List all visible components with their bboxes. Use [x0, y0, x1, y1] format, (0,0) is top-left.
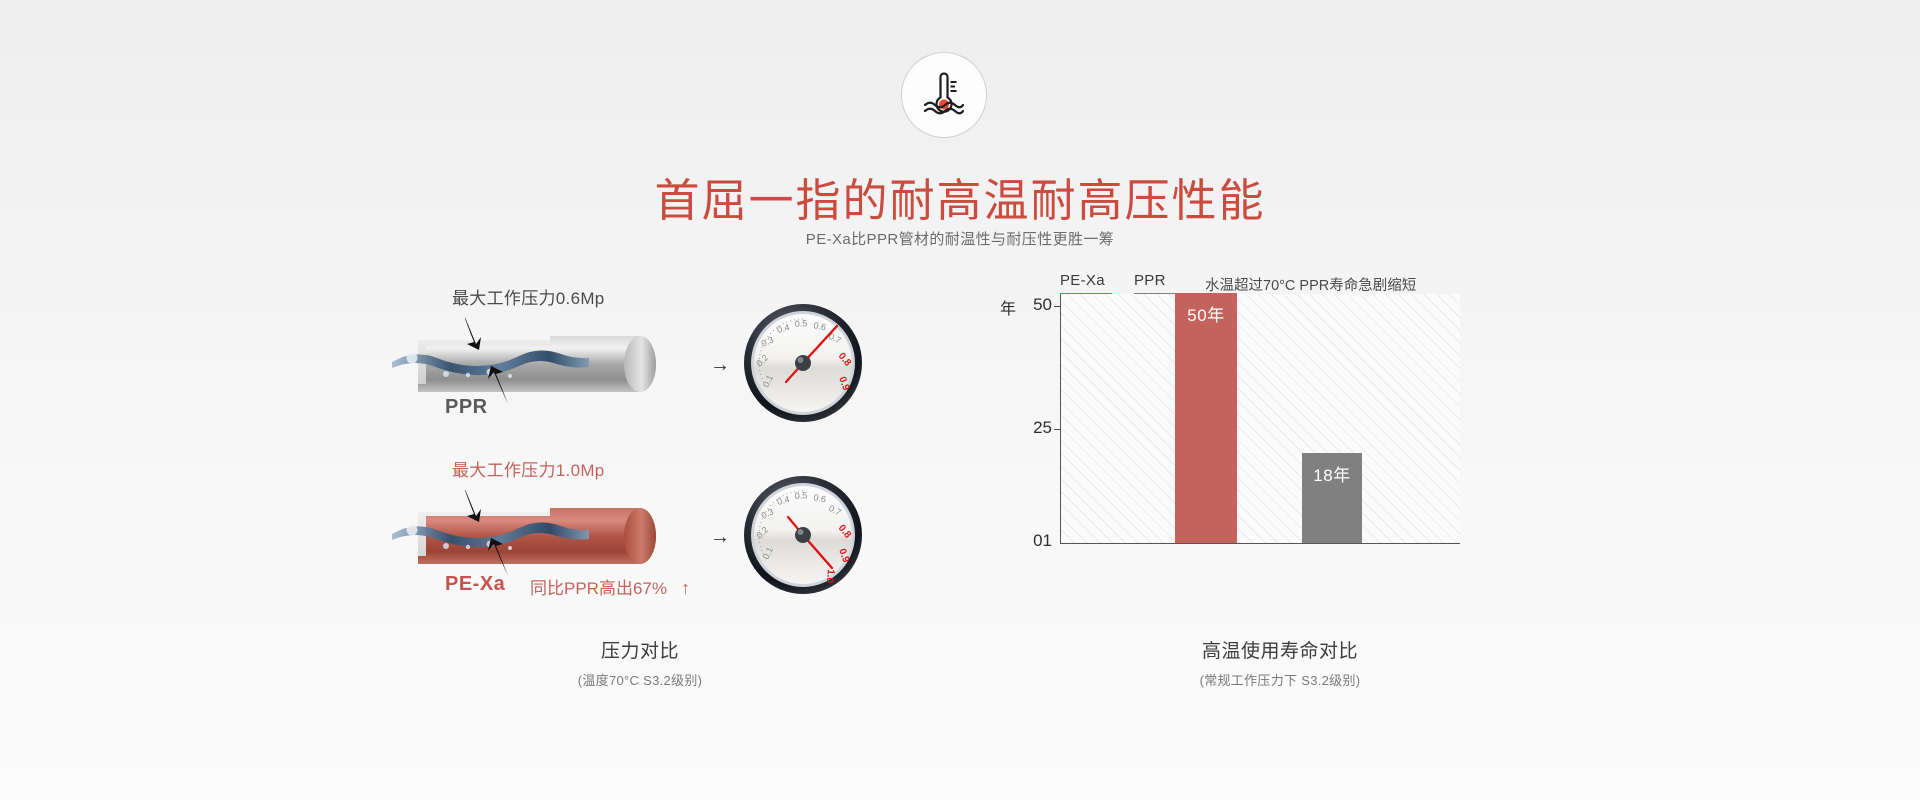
chart-plot-area: 50年 18年: [1060, 294, 1460, 544]
bar-label-pexa: 50年: [1175, 301, 1237, 326]
flow-arrow-icon: →: [710, 354, 730, 377]
up-arrow-icon: ↑: [681, 578, 690, 598]
pexa-pipe-block: 最大工作压力1.0Mp: [390, 460, 890, 610]
pexa-pressure-gauge: 0.1 0.2 0.3 0.4 0.5 0.6 0.7 0.8 0.9 1.0: [740, 472, 866, 598]
pexa-comparison: 同比PPR高出67%↑: [530, 574, 690, 599]
ppr-pipe-block: 最大工作压力0.6Mp: [390, 288, 890, 438]
flow-arrow-icon-2: →: [710, 526, 730, 549]
ppr-pipe-name: PPR: [445, 396, 488, 419]
pexa-pressure-label: 最大工作压力1.0Mp: [452, 456, 605, 481]
page-subtitle: PE-Xa比PPR管材的耐温性与耐压性更胜一筹: [0, 228, 1920, 249]
thermometer-water-icon: [901, 52, 987, 138]
y-axis-unit-label: 年: [1000, 295, 1016, 319]
y-tick-25: 25: [1016, 418, 1052, 438]
ppr-pipe-graphic: [390, 318, 690, 408]
svg-text:1.0: 1.0: [824, 569, 836, 584]
y-tick-01: 01: [1016, 531, 1052, 551]
pressure-caption: 压力对比 (温度70°C S3.2级别): [380, 636, 900, 689]
svg-text:0.5: 0.5: [794, 490, 807, 501]
bar-label-ppr: 18年: [1302, 461, 1362, 486]
lifespan-chart-panel: PE-Xa PPR 水温超过70°C PPR寿命急剧缩短 年 50 25 01 …: [1000, 272, 1560, 612]
bar-ppr[interactable]: 18年: [1302, 453, 1362, 543]
lifespan-caption-sub: (常规工作压力下 S3.2级别): [1020, 670, 1540, 689]
chart-annotation: 水温超过70°C PPR寿命急剧缩短: [1205, 274, 1416, 295]
pressure-comparison-panel: 最大工作压力0.6Mp: [390, 288, 890, 588]
pexa-pipe-graphic: [390, 490, 690, 580]
lifespan-caption: 高温使用寿命对比 (常规工作压力下 S3.2级别): [1020, 636, 1540, 689]
legend-label-pexa: PE-Xa: [1060, 272, 1105, 289]
bar-pexa[interactable]: 50年: [1175, 293, 1237, 543]
lifespan-caption-title: 高温使用寿命对比: [1020, 636, 1540, 663]
legend-label-ppr: PPR: [1134, 272, 1166, 289]
pexa-pipe-name: PE-Xa: [445, 573, 505, 596]
page-title: 首屈一指的耐高温耐高压性能: [0, 164, 1920, 229]
y-tick-50: 50: [1016, 295, 1052, 315]
pressure-caption-title: 压力对比: [380, 636, 900, 663]
ppr-pressure-gauge: 0.1 0.2 0.3 0.4 0.5 0.6 0.7 0.8 0.9: [740, 300, 866, 426]
pressure-caption-sub: (温度70°C S3.2级别): [380, 670, 900, 689]
pexa-comparison-text: 同比PPR高出67%: [530, 579, 667, 598]
page-root: 首屈一指的耐高温耐高压性能 PE-Xa比PPR管材的耐温性与耐压性更胜一筹 最大…: [0, 0, 1920, 800]
ppr-pressure-label: 最大工作压力0.6Mp: [452, 284, 605, 309]
svg-text:0.5: 0.5: [794, 318, 807, 329]
